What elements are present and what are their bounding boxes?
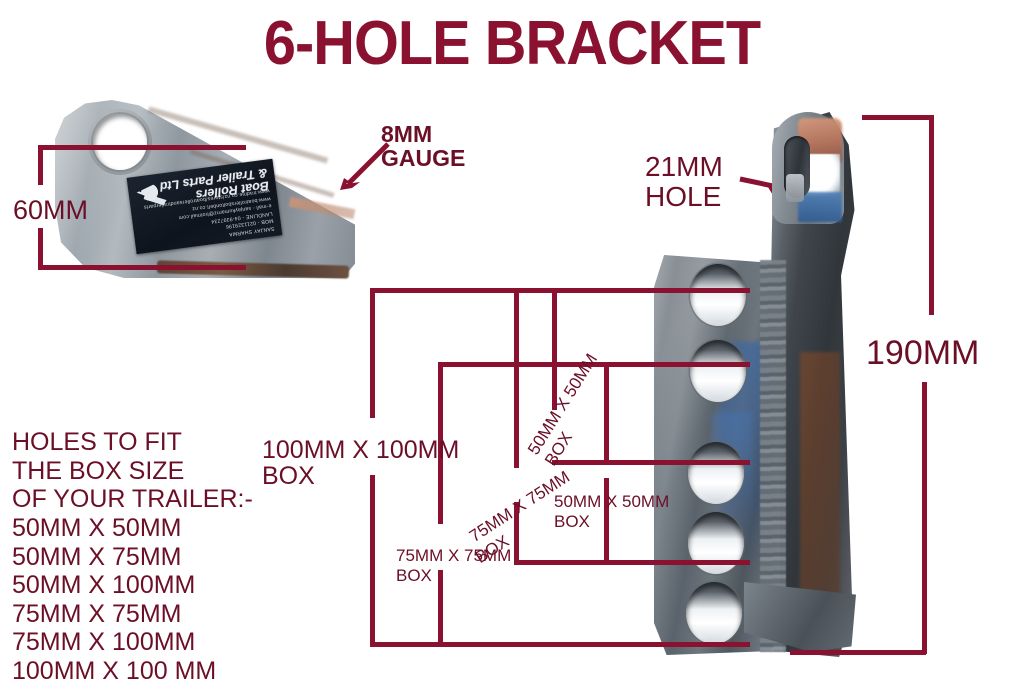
product-diagram: 6-HOLE BRACKET SANJAY SHARMA MOB - 02113… [0, 0, 1024, 700]
callout-line-100x100-left-upper [370, 288, 375, 418]
dim-60mm-bottom-line [38, 265, 246, 270]
callout-100x100-line2: BOX [262, 463, 315, 490]
callout-line-75x75-left-lower [438, 570, 443, 642]
callout-line-50x50-right-upper [604, 362, 609, 460]
dim-190mm-upper-leg [929, 115, 934, 315]
callout-line-50x50-left-upper [514, 288, 519, 468]
callout-50x50-right-line2: BOX [554, 512, 590, 531]
callout-line-50x50-bottom [514, 560, 750, 565]
bracket-hole-3 [688, 442, 744, 504]
page-title: 6-HOLE BRACKET [36, 8, 988, 79]
dim-60mm-bottom-tick [38, 228, 43, 270]
callout-line-50x50-inner-line [552, 460, 750, 465]
right-bracket-eye-shine [786, 174, 804, 202]
left-bracket-photo: SANJAY SHARMA MOB - 0211329196 LANDLINE … [55, 100, 355, 278]
dim-60mm-label: 60MM [13, 196, 88, 225]
dim-190mm-lower-leg [922, 382, 927, 654]
bracket-hole-1 [690, 264, 746, 326]
dim-190mm-top-line [862, 115, 934, 120]
right-bracket-photo [648, 112, 880, 657]
dim-60mm-top-tick [38, 145, 43, 185]
callout-100x100-line1: 100MM X 100MM [262, 437, 459, 464]
callout-line-100x100-left-lower [370, 475, 375, 647]
holes-to-fit-list: HOLES TO FIT THE BOX SIZE OF YOUR TRAILE… [12, 428, 253, 686]
dim-60mm-top-line [38, 145, 246, 150]
left-bracket-hole [93, 114, 147, 170]
callout-line-50x50-inner-tick [552, 288, 557, 410]
gauge-label-line2: GAUGE [381, 146, 465, 170]
callout-line-100x100-bottom [370, 642, 750, 647]
callout-50x50-right-line1: 50MM X 50MM [554, 492, 669, 511]
callout-75x75-lower-line2: BOX [396, 566, 432, 585]
bracket-hole-2 [690, 340, 746, 402]
dim-190mm-bottom-line [790, 650, 926, 655]
gauge-arrow-icon [330, 140, 390, 192]
callout-line-50x50-right-lower [604, 478, 609, 562]
dim-190mm-label: 190MM [866, 335, 979, 371]
bracket-hole-5 [686, 582, 742, 644]
right-bracket-eye-blue [798, 192, 842, 222]
callout-line-100x100-top [370, 288, 750, 293]
